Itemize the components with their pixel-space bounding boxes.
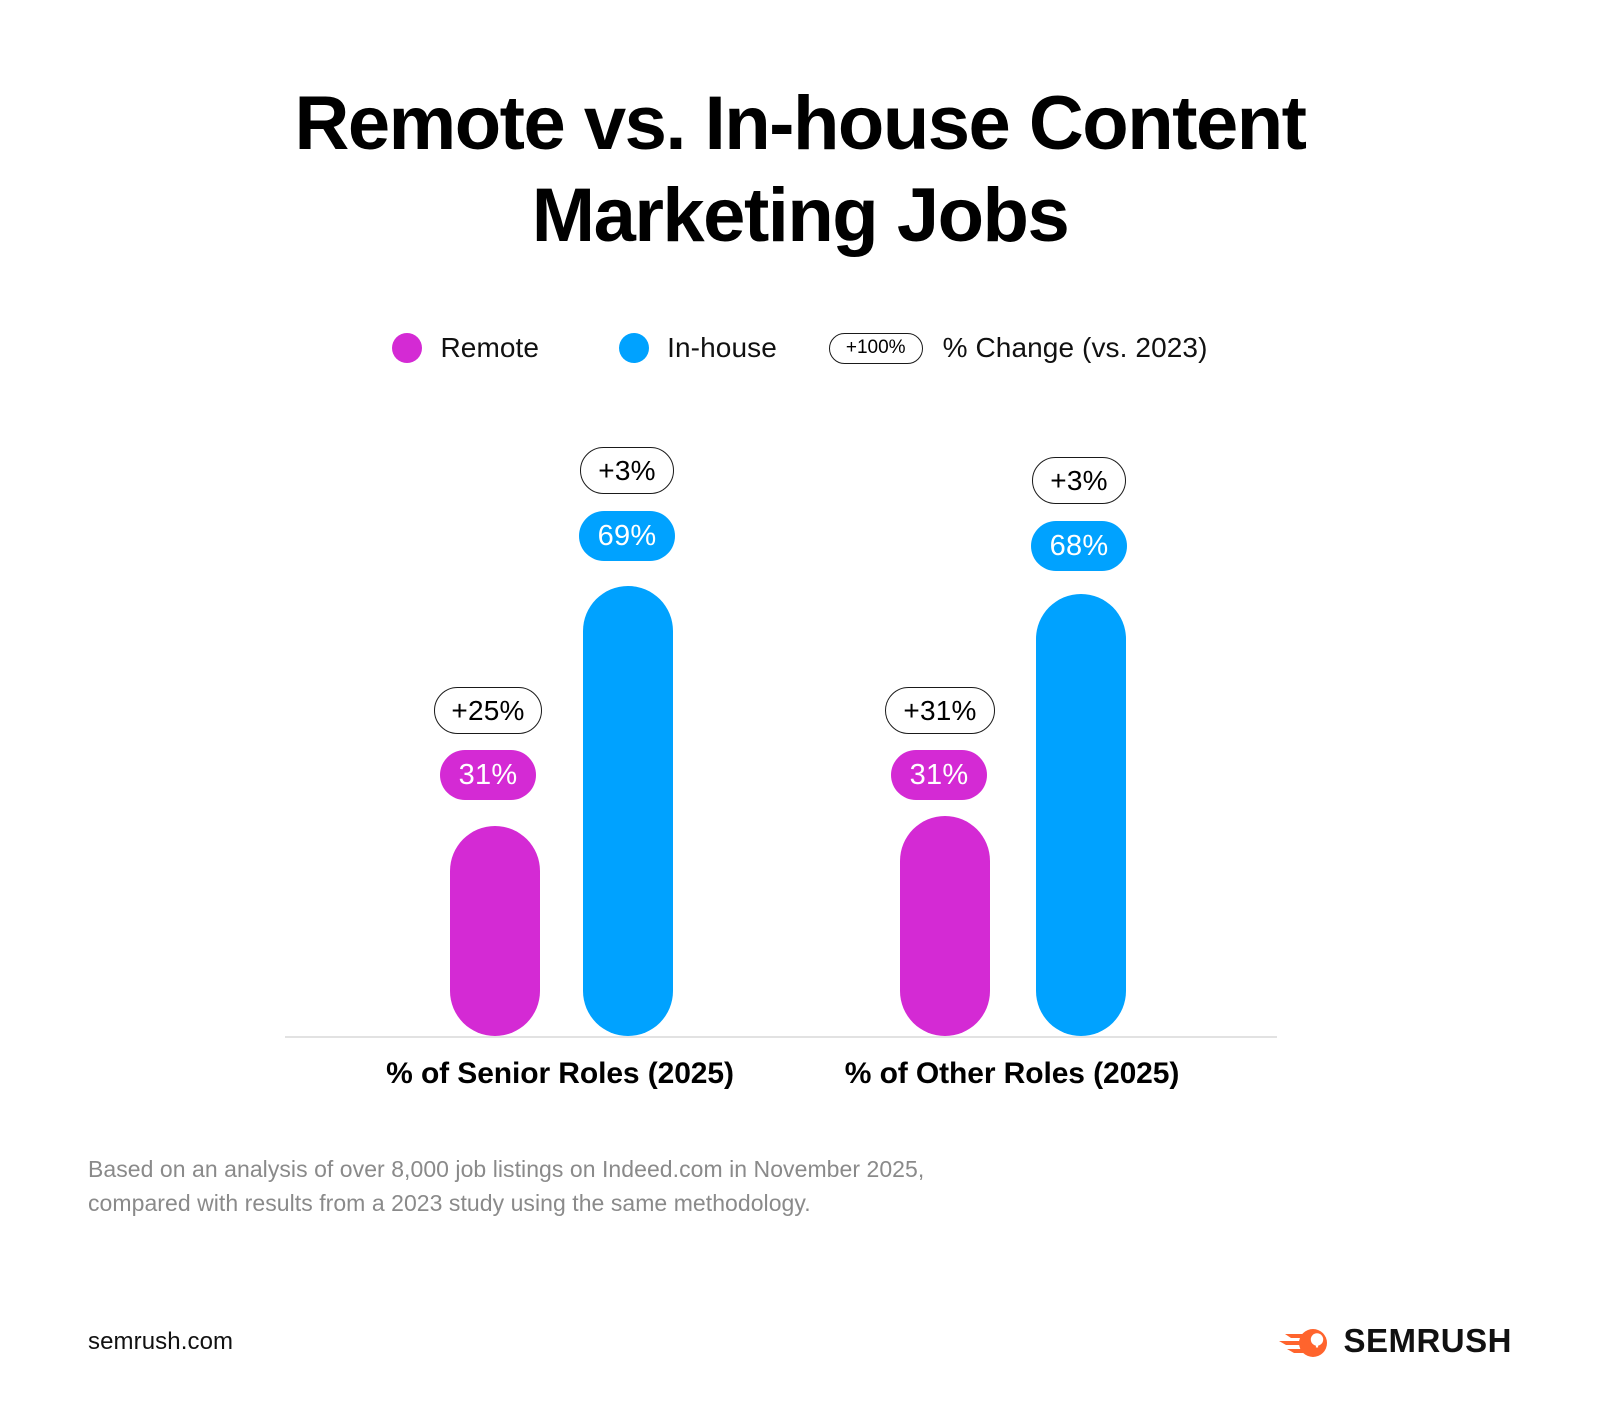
value-pill-other-remote: 31% — [891, 750, 987, 800]
value-pill-other-inhouse: 68% — [1031, 521, 1127, 571]
semrush-wordmark: SEMRUSH — [1343, 1322, 1512, 1360]
change-pill-senior-inhouse: +3% — [580, 447, 674, 494]
change-pill-other-inhouse: +3% — [1032, 457, 1126, 504]
bar-other-remote[interactable] — [900, 816, 990, 1036]
semrush-logo: SEMRUSH — [1279, 1322, 1512, 1360]
footer-site-url[interactable]: semrush.com — [88, 1328, 233, 1356]
change-pill-senior-remote: +25% — [434, 687, 542, 734]
value-pill-senior-inhouse: 69% — [579, 511, 675, 561]
bar-other-inhouse[interactable] — [1036, 594, 1126, 1036]
category-label-other: % of Other Roles (2025) — [762, 1057, 1262, 1091]
change-pill-other-remote: +31% — [885, 687, 995, 734]
semrush-comet-icon — [1279, 1322, 1331, 1360]
chart-baseline — [285, 1036, 1277, 1038]
chart-footnote: Based on an analysis of over 8,000 job l… — [88, 1152, 1088, 1220]
bar-senior-inhouse[interactable] — [583, 586, 673, 1036]
value-pill-senior-remote: 31% — [440, 750, 536, 800]
category-label-senior: % of Senior Roles (2025) — [310, 1057, 810, 1091]
bar-senior-remote[interactable] — [450, 826, 540, 1036]
